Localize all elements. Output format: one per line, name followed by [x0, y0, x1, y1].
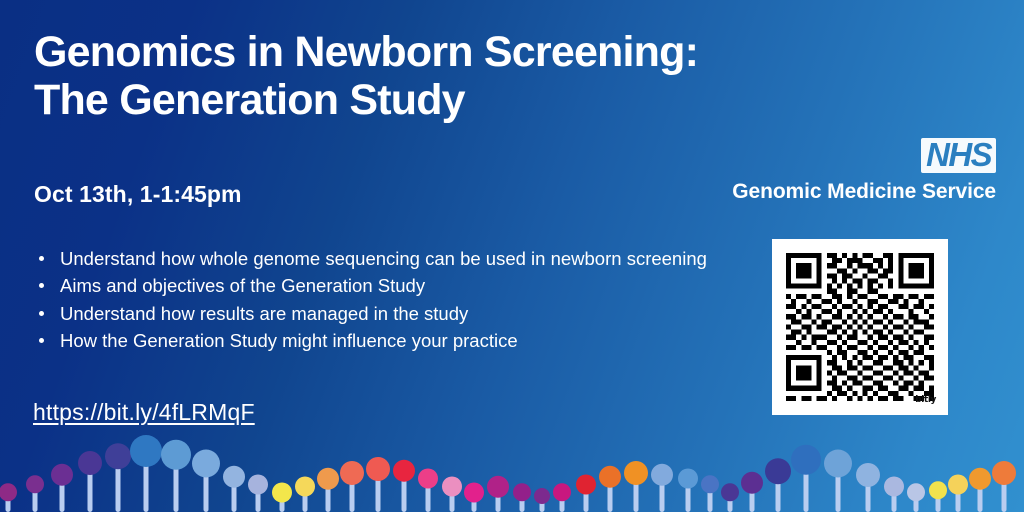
agenda-list: Understand how whole genome sequencing c…	[34, 246, 714, 355]
event-datetime: Oct 13th, 1-1:45pm	[34, 181, 242, 208]
dna-node	[741, 472, 763, 494]
dna-node	[161, 440, 191, 470]
dna-node	[78, 451, 102, 475]
dna-node	[929, 481, 947, 499]
qr-code-panel[interactable]: bitly	[772, 239, 948, 415]
registration-link[interactable]: https://bit.ly/4fLRMqF	[33, 399, 255, 426]
list-item-label: Understand how whole genome sequencing c…	[60, 248, 707, 269]
bullet-dot-icon	[39, 256, 44, 261]
bullet-dot-icon	[39, 311, 44, 316]
dna-node	[0, 483, 17, 501]
dna-node	[418, 469, 438, 489]
list-item-label: Understand how results are managed in th…	[60, 303, 468, 324]
dna-helix-decoration	[0, 432, 1024, 512]
list-item: How the Generation Study might influence…	[34, 328, 714, 354]
dna-node	[856, 463, 880, 487]
dna-node	[317, 468, 339, 490]
nhs-wordmark: NHS	[926, 140, 991, 170]
dna-node	[340, 461, 364, 485]
dna-node	[765, 458, 791, 484]
dna-node	[366, 457, 390, 481]
dna-node	[248, 475, 268, 495]
dna-node	[701, 475, 719, 493]
dna-node	[992, 461, 1016, 485]
nhs-logo-box: NHS	[921, 138, 996, 173]
nhs-logo-subtitle: Genomic Medicine Service	[732, 180, 996, 204]
dna-node	[884, 477, 904, 497]
dna-node	[295, 477, 315, 497]
dna-node	[599, 466, 621, 488]
dna-node	[51, 464, 73, 486]
dna-node	[576, 475, 596, 495]
dna-node	[130, 435, 162, 467]
dna-node	[487, 476, 509, 498]
bitly-brand-label: bitly	[915, 395, 936, 405]
dna-node	[223, 466, 245, 488]
nhs-logo: NHS Genomic Medicine Service	[732, 138, 996, 204]
list-item-label: Aims and objectives of the Generation St…	[60, 275, 425, 296]
qr-code-image[interactable]	[786, 253, 934, 401]
dna-node	[393, 460, 415, 482]
list-item: Understand how results are managed in th…	[34, 301, 714, 327]
dna-node	[624, 461, 648, 485]
dna-node	[678, 469, 698, 489]
bullet-dot-icon	[39, 283, 44, 288]
dna-node	[651, 464, 673, 486]
dna-node	[534, 488, 550, 504]
dna-node	[513, 483, 531, 501]
dna-node	[969, 468, 991, 490]
dna-node	[442, 477, 462, 497]
dna-node	[791, 445, 821, 475]
dna-node	[26, 475, 44, 493]
dna-node	[105, 443, 131, 469]
poster-canvas: Genomics in Newborn Screening: The Gener…	[0, 0, 1024, 512]
bullet-dot-icon	[39, 338, 44, 343]
list-item: Understand how whole genome sequencing c…	[34, 246, 714, 272]
dna-node	[272, 483, 292, 503]
dna-node	[948, 475, 968, 495]
dna-node	[192, 450, 220, 478]
list-item: Aims and objectives of the Generation St…	[34, 273, 714, 299]
dna-node	[464, 483, 484, 503]
list-item-label: How the Generation Study might influence…	[60, 330, 518, 351]
dna-node	[553, 483, 571, 501]
page-title: Genomics in Newborn Screening: The Gener…	[34, 28, 754, 124]
dna-node	[907, 483, 925, 501]
dna-node	[824, 450, 852, 478]
dna-node	[721, 483, 739, 501]
